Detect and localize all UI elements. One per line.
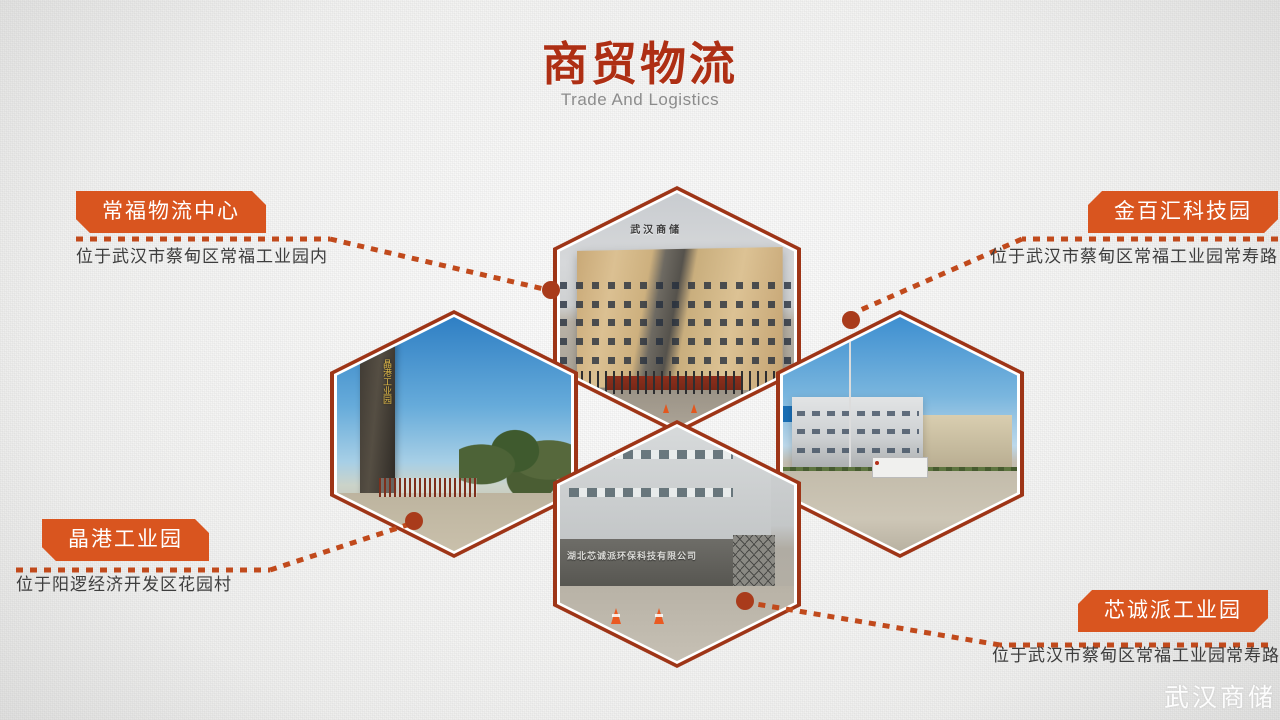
label-chip-jinggang-industrial-park[interactable]: 晶港工业园	[42, 519, 209, 561]
window-row	[560, 357, 794, 364]
hex-photo-changfu-logistics-center[interactable]: 武汉商储	[553, 186, 801, 434]
page-title: 商贸物流	[0, 40, 1280, 88]
hex-photo-jinggang-industrial-park[interactable]: 晶港工业园	[330, 310, 578, 558]
label-caption-xinchengpai-industrial-park: 位于武汉市蔡甸区常福工业园常寿路	[992, 641, 1280, 666]
sliding-gate	[379, 478, 477, 497]
window-row	[797, 411, 919, 416]
company-signboard	[872, 457, 928, 478]
window-row	[560, 319, 794, 326]
traffic-cone	[691, 404, 697, 413]
label-group-jinggang-industrial-park: 晶港工业园 位于阳逻经济开发区花园村	[42, 519, 232, 595]
window-row	[569, 450, 733, 459]
building-sign-text: 武汉商储	[630, 221, 682, 236]
watermark-text: 武汉商储	[1164, 678, 1276, 714]
building-facade	[560, 427, 771, 544]
label-caption-changfu-logistics-center: 位于武汉市蔡甸区常福工业园内	[76, 242, 328, 267]
label-chip-changfu-logistics-center[interactable]: 常福物流中心	[76, 191, 266, 233]
page-subtitle: Trade And Logistics	[0, 90, 1280, 110]
window-row	[560, 338, 794, 345]
hex-photo-xinchengpai-industrial-park[interactable]: 湖北芯诚派环保科技有限公司	[553, 420, 801, 668]
window-row	[797, 429, 919, 434]
entry-road	[337, 493, 571, 552]
window-row	[569, 488, 733, 497]
page-title-block: 商贸物流 Trade And Logistics	[0, 40, 1280, 110]
window-row	[560, 301, 794, 308]
wall-sign-text: 湖北芯诚派环保科技有限公司	[567, 549, 697, 562]
monument-sign-text: 晶港工业园	[364, 359, 392, 404]
label-group-jinbaihui-tech-park: 金百汇科技园 位于武汉市蔡甸区常福工业园常寿路	[990, 191, 1278, 267]
label-group-xinchengpai-industrial-park: 芯诚派工业园 位于武汉市蔡甸区常福工业园常寿路	[992, 590, 1268, 666]
label-chip-jinbaihui-tech-park[interactable]: 金百汇科技园	[1088, 191, 1278, 233]
label-caption-jinbaihui-tech-park: 位于武汉市蔡甸区常福工业园常寿路	[990, 242, 1278, 267]
label-caption-jinggang-industrial-park: 位于阳逻经济开发区花园村	[16, 570, 232, 595]
hex-photo-jinbaihui-tech-park[interactable]	[776, 310, 1024, 558]
label-group-changfu-logistics-center: 常福物流中心 位于武汉市蔡甸区常福工业园内	[76, 191, 328, 267]
connector-diagonal-segment	[330, 239, 548, 290]
traffic-cone	[663, 404, 669, 413]
window-row	[797, 448, 919, 453]
flag-pole	[849, 322, 851, 467]
entrance-wall	[560, 539, 743, 590]
window-row	[560, 282, 794, 289]
traffic-cone	[611, 608, 621, 624]
label-chip-xinchengpai-industrial-park[interactable]: 芯诚派工业园	[1078, 590, 1268, 632]
traffic-cone	[654, 608, 664, 624]
